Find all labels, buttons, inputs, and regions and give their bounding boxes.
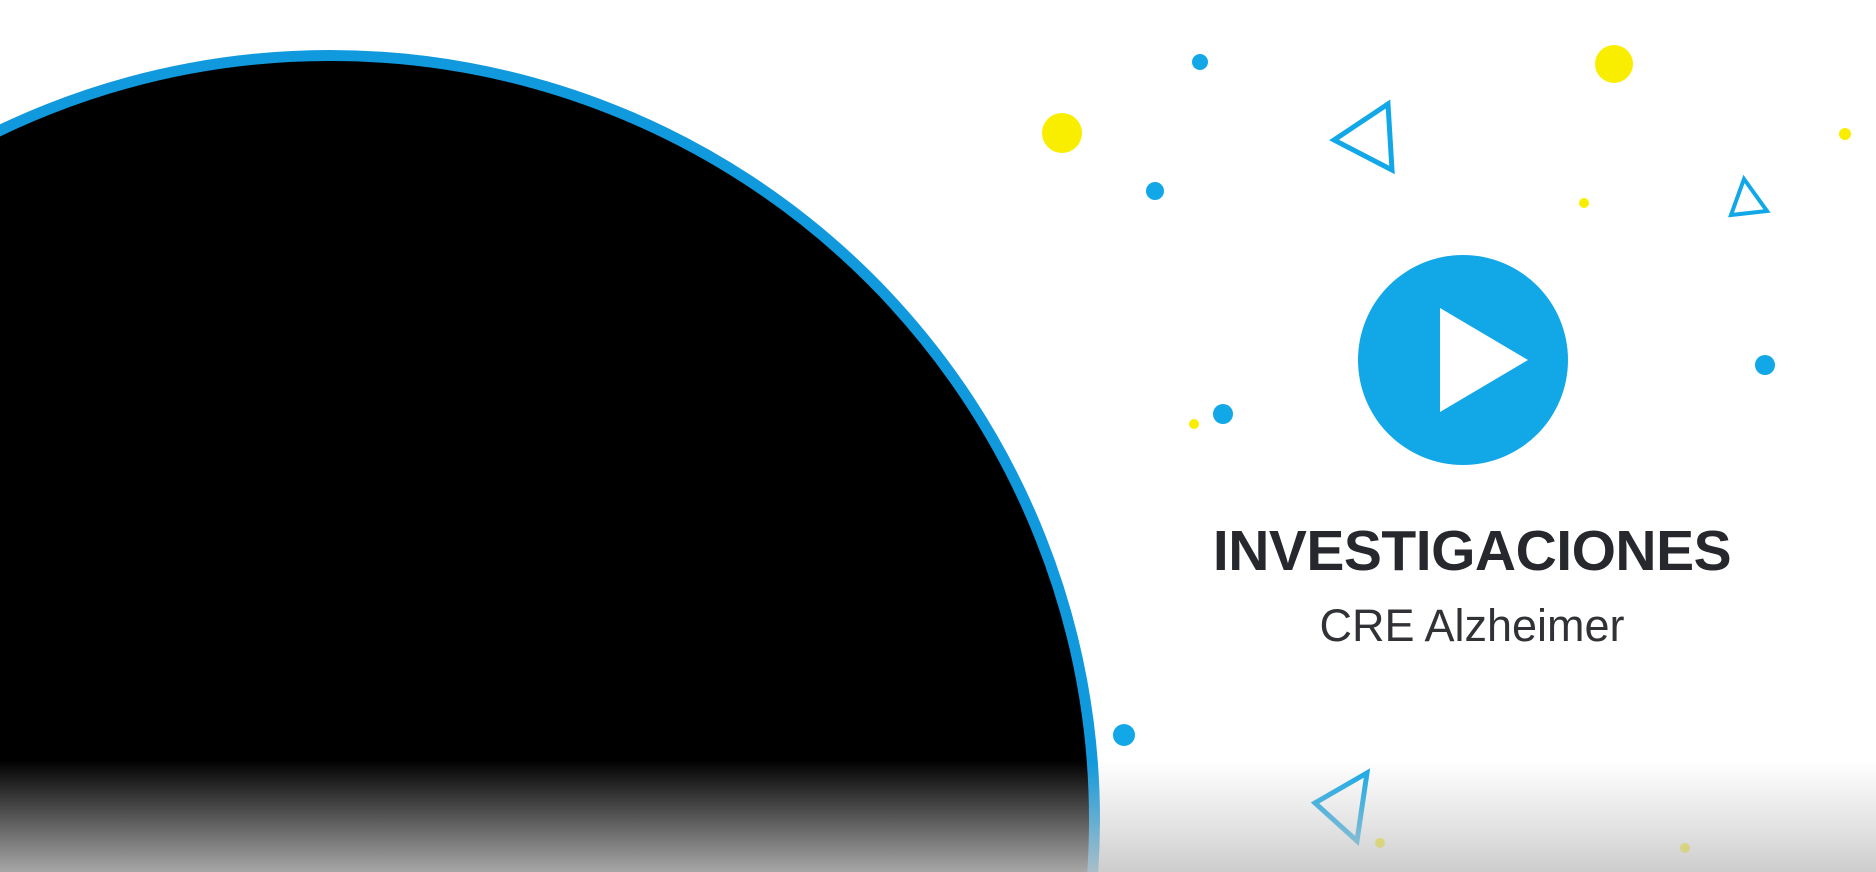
page-subtitle: CRE Alzheimer — [1212, 603, 1732, 648]
yellow-circle-1 — [1042, 113, 1082, 153]
blue-dot-4 — [1213, 404, 1233, 424]
play-icon — [1440, 308, 1528, 412]
yellow-dot-2 — [1839, 128, 1851, 140]
video-thumbnail-canvas: INVESTIGACIONES CRE Alzheimer — [0, 0, 1876, 872]
blue-dot-5 — [1113, 724, 1135, 746]
blue-dot-2 — [1146, 182, 1164, 200]
page-title: INVESTIGACIONES — [1212, 523, 1732, 580]
large-black-circle — [0, 50, 1100, 872]
triangle-left-top-icon — [1330, 100, 1410, 180]
yellow-dot-3 — [1189, 419, 1199, 429]
blue-dot-1 — [1192, 54, 1208, 70]
yellow-dot-5 — [1680, 843, 1690, 853]
yellow-dot-1 — [1579, 198, 1589, 208]
triangle-up-right-icon — [1730, 175, 1800, 245]
play-button[interactable] — [1358, 255, 1568, 465]
yellow-circle-2 — [1595, 45, 1633, 83]
blue-dot-3 — [1755, 355, 1775, 375]
triangle-left-bottom-icon — [1295, 765, 1385, 855]
